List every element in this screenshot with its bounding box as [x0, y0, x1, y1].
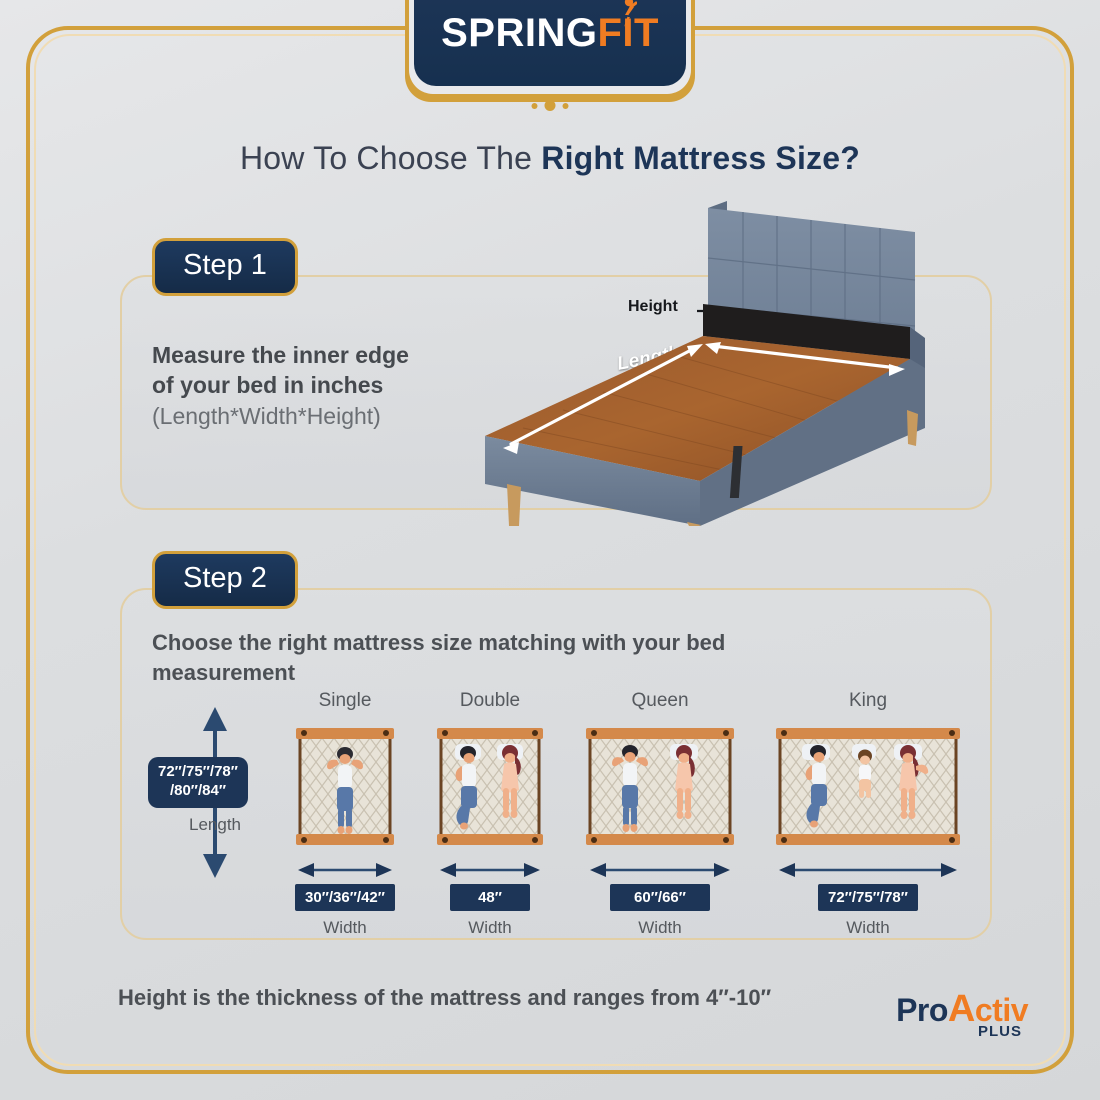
step-1-instruction: Measure the inner edge of your bed in in… — [152, 340, 482, 431]
width-value-queen: 60″/66″ — [610, 884, 710, 911]
running-figure-icon — [617, 0, 637, 31]
footer-height-note: Height is the thickness of the mattress … — [118, 985, 771, 1011]
step-1-line-1: Measure the inner edge — [152, 340, 482, 370]
width-caption-single: Width — [290, 918, 400, 938]
width-caption-king: Width — [770, 918, 966, 938]
step-1-line-2: of your bed in inches — [152, 370, 482, 400]
width-caption-queen: Width — [580, 918, 740, 938]
banner-decorative-dots — [532, 100, 569, 111]
length-indicator: 72″/75″/78″ /80″/84″ Length — [160, 705, 270, 880]
logo-spring-text: SPRING — [441, 11, 597, 56]
step-2-badge: Step 2 — [152, 551, 298, 609]
length-value-line-2: /80″/84″ — [158, 782, 238, 801]
page-title: How To Choose The Right Mattress Size? — [0, 140, 1100, 177]
width-arrow-queen-icon — [590, 862, 730, 878]
width-arrow-single-icon — [298, 862, 392, 878]
length-value-badge: 72″/75″/78″ /80″/84″ — [148, 757, 248, 808]
width-arrow-double-icon — [440, 862, 540, 878]
bed-illustration — [455, 196, 975, 526]
width-value-king: 72″/75″/78″ — [818, 884, 918, 911]
bed-svg — [455, 196, 975, 526]
mattress-illustration-double — [433, 722, 547, 852]
mattress-size-row: Single — [280, 690, 940, 940]
length-value-line-1: 72″/75″/78″ — [158, 763, 238, 782]
width-value-double: 48″ — [450, 884, 530, 911]
step-1-line-3: (Length*Width*Height) — [152, 401, 482, 431]
width-caption-double: Width — [430, 918, 550, 938]
size-label-double: Double — [430, 690, 550, 714]
size-label-queen: Queen — [580, 690, 740, 714]
mattress-option-double[interactable]: Double — [430, 690, 550, 938]
width-arrow-king-icon — [779, 862, 957, 878]
mattress-illustration-single — [292, 722, 398, 852]
page-title-emphasis: Right Mattress Size? — [541, 140, 860, 176]
proactiv-plus-logo: ProActiv PLUS — [896, 990, 1028, 1039]
mattress-option-single[interactable]: Single — [290, 690, 400, 938]
length-caption: Length — [160, 815, 270, 835]
proactiv-pro-text: Pro — [896, 992, 948, 1028]
dot-large-center — [545, 100, 556, 111]
step-2-instruction: Choose the right mattress size matching … — [152, 628, 872, 689]
banner-navy-plate: SPRING FIT — [414, 0, 686, 86]
mattress-illustration-king — [772, 722, 964, 852]
proactiv-a-text: A — [948, 988, 975, 1030]
page-title-plain: How To Choose The — [240, 140, 541, 176]
brand-banner: SPRING FIT — [405, 0, 695, 112]
mattress-option-king[interactable]: King — [770, 690, 966, 938]
dot-small-left — [532, 103, 538, 109]
width-value-single: 30″/36″/42″ — [295, 884, 395, 911]
springfit-logo: SPRING FIT — [441, 11, 659, 56]
step-1-badge: Step 1 — [152, 238, 298, 296]
size-label-king: King — [770, 690, 966, 714]
mattress-illustration-queen — [582, 722, 738, 852]
size-label-single: Single — [290, 690, 400, 714]
mattress-option-queen[interactable]: Queen — [580, 690, 740, 938]
dot-small-right — [563, 103, 569, 109]
